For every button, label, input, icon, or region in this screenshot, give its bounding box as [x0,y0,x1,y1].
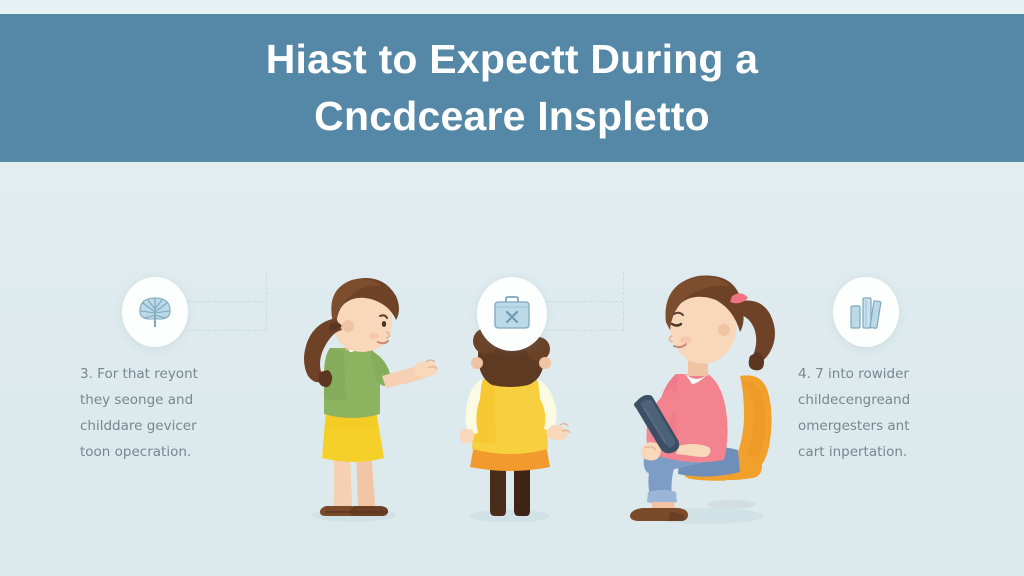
header-banner: Hiast to Expectt During a Cncdceare Insp… [0,14,1024,162]
step-text-right-line-4: cart inpertation. [798,440,958,466]
step-text-right-line-3: omergesters ant [798,414,958,440]
books-icon [846,292,886,332]
connector-middle-horizontal [543,301,623,302]
step-text-left-line-1: 3. For that reyont [80,362,240,388]
figure-standing-girl [286,272,466,522]
figure-seated-inspector [614,270,794,525]
step-text-right: 4. 7 into rowider childecengreand omerge… [798,362,958,466]
page-title-line-2: Cncdceare Inspletto [314,88,710,145]
step-icon-badge-books[interactable] [833,277,899,347]
connector-left-vertical [266,272,267,330]
step-icon-badge-first-aid-kit[interactable] [477,277,547,351]
connector-left-horizontal [188,301,266,302]
step-text-left-line-2: they seonge and [80,388,240,414]
first-aid-kit-icon [491,294,533,334]
tree-icon [135,292,175,332]
step-text-right-line-1: 4. 7 into rowider [798,362,958,388]
step-text-left: 3. For that reyont they seonge and child… [80,362,240,466]
connector-left-horizontal-lower [188,330,266,331]
step-text-left-line-4: toon opecration. [80,440,240,466]
childcare-inspection-infographic: Hiast to Expectt During a Cncdceare Insp… [0,0,1024,576]
illustration-stage: 3. For that reyont they seonge and child… [0,162,1024,576]
page-title-line-1: Hiast to Expectt During a [266,31,759,88]
step-icon-badge-tree[interactable] [122,277,188,347]
step-text-left-line-3: childdare gevicer [80,414,240,440]
step-text-right-line-2: childecengreand [798,388,958,414]
